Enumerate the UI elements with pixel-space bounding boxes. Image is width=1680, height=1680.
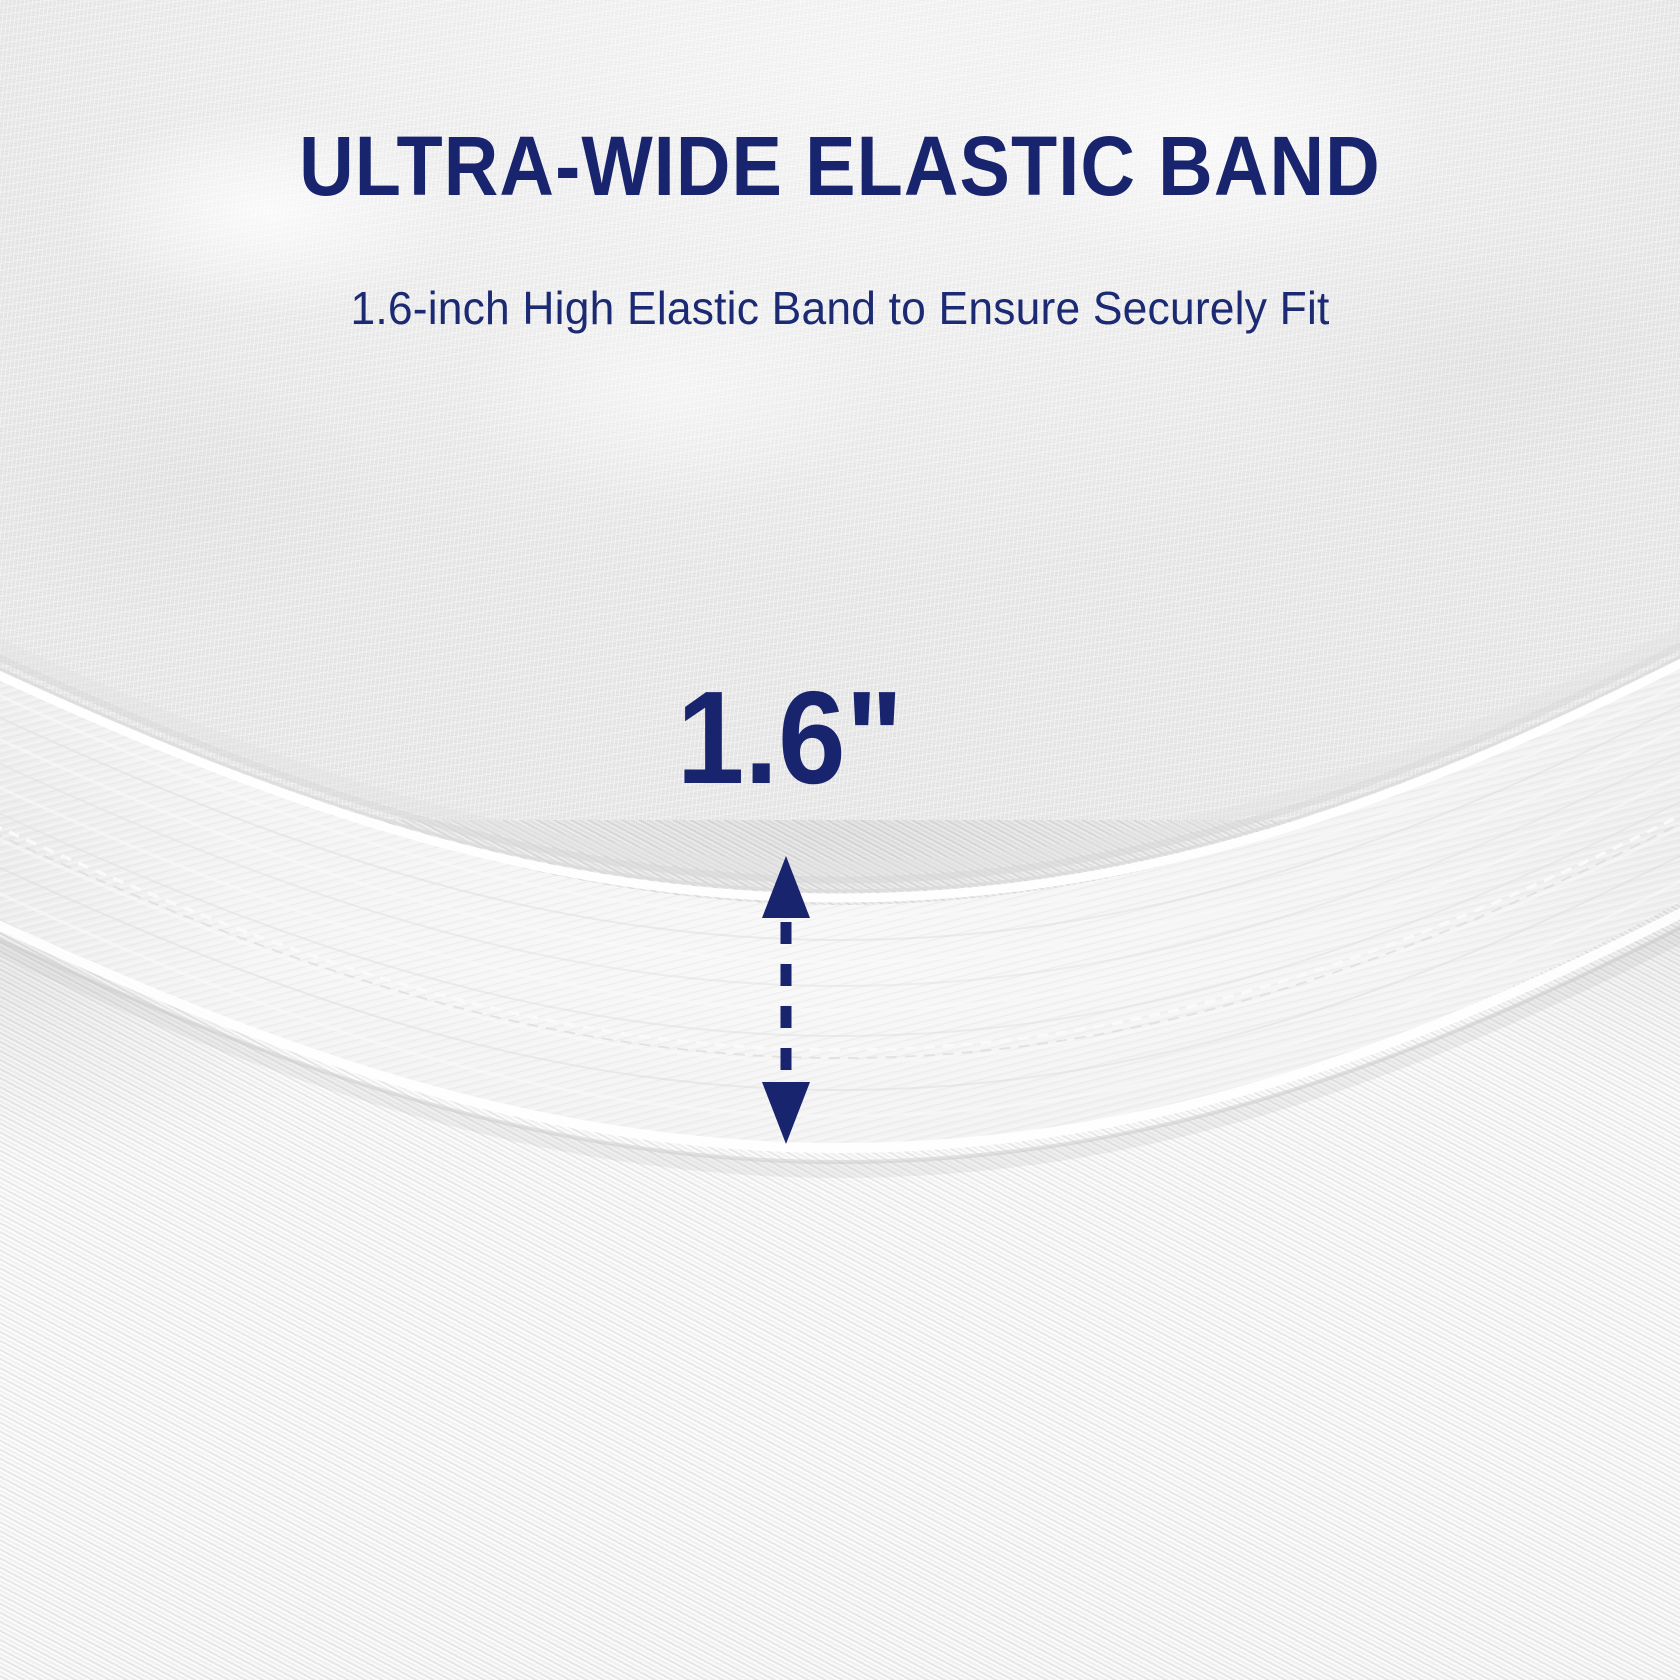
double-headed-dashed-arrow [0,0,1680,1680]
arrow-head-down-icon [762,1082,810,1144]
arrow-head-up-icon [762,856,810,918]
product-infographic: ULTRA-WIDE ELASTIC BAND 1.6-inch High El… [0,0,1680,1680]
